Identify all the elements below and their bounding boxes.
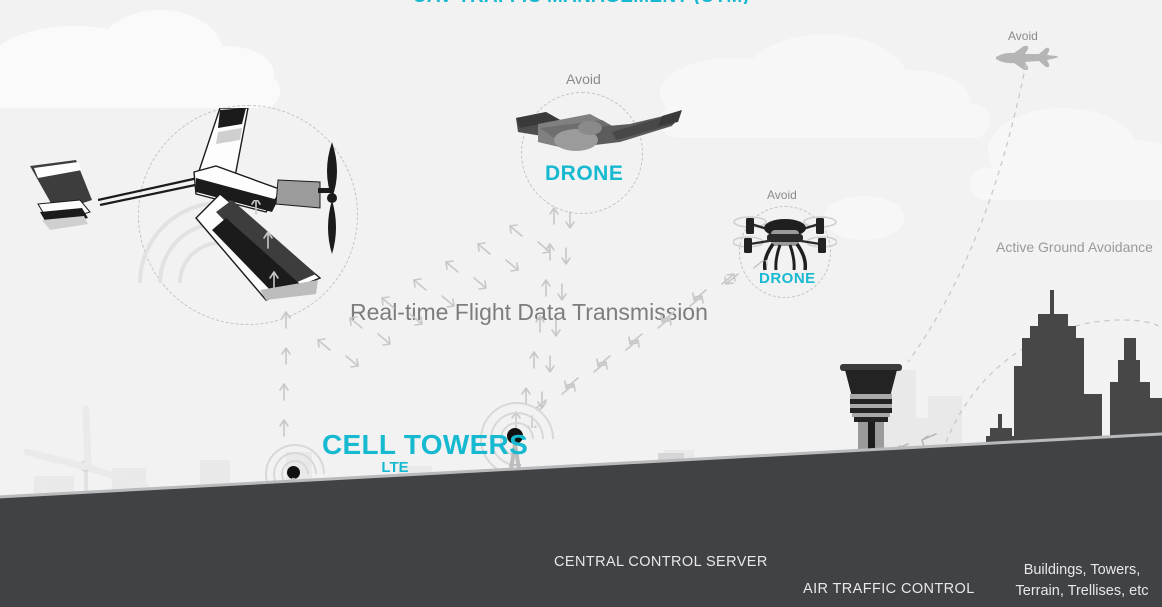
obstacles-line-1: Buildings, Towers, — [1002, 560, 1162, 581]
avoid-label-aircraft: Avoid — [1008, 29, 1038, 43]
data-arrow-stream-right — [536, 260, 776, 440]
diagram-title-cutoff: UAV TRAFFIC MANAGEMENT (UTM) — [0, 0, 1162, 4]
air-traffic-control-label: AIR TRAFFIC CONTROL — [803, 581, 975, 597]
cloud-shape — [0, 74, 280, 108]
uav-traffic-management-diagram: UAV TRAFFIC MANAGEMENT (UTM) — [0, 0, 1162, 607]
ground-avoidance-label: Active Ground Avoidance — [996, 239, 1153, 255]
flying-wing-drone-icon — [512, 106, 682, 166]
skyline-building — [1124, 338, 1136, 364]
avoid-label-flying-wing: Avoid — [566, 71, 601, 87]
skyline-building — [998, 414, 1002, 432]
avoid-label-quadcopter: Avoid — [767, 188, 797, 202]
skyline-building — [1118, 360, 1140, 388]
central-control-server-label: CENTRAL CONTROL SERVER — [554, 554, 768, 570]
obstacles-line-2: Terrain, Trellises, etc — [1002, 581, 1162, 602]
ground-plane — [0, 433, 1162, 607]
cell-towers-heading: CELL TOWERS — [322, 429, 528, 461]
skyline-antenna — [1050, 290, 1054, 320]
obstacles-label: Buildings, Towers, Terrain, Trellises, e… — [1002, 560, 1162, 602]
